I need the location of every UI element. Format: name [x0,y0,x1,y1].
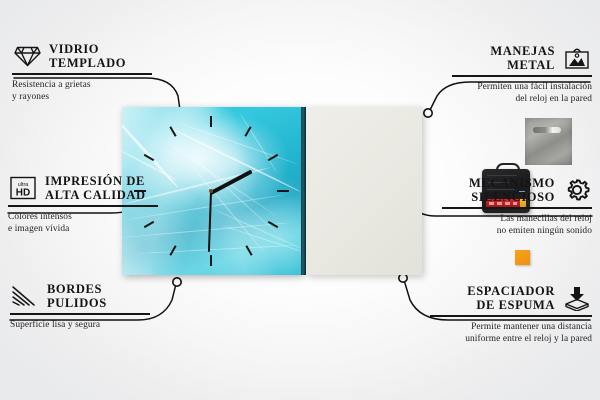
connector-dot-manejas [424,109,432,117]
picture-hook-icon [562,45,592,71]
infographic-canvas: VIDRIO TEMPLADO Resistencia a grietas y … [0,0,600,400]
hanger-slot [533,127,561,133]
down-arrow-layers-icon [562,285,592,311]
feature-title: MANEJAS METAL [490,44,555,72]
feature-title: MECANISMO SILENCIOSO [469,176,555,204]
feature-manejas-metal: MANEJAS METAL Permiten una fácil instala… [452,44,592,105]
clock-tick [210,116,212,127]
feature-title: IMPRESIÓN DE ALTA CALIDAD [45,174,146,202]
product-image [122,107,422,275]
feature-title: VIDRIO TEMPLADO [49,42,126,70]
svg-text:HD: HD [16,188,30,199]
feature-description: Colores intensos e imagen vívida [8,211,158,236]
diamond-icon [12,43,42,69]
foam-spacer [515,250,530,265]
feature-description: Permiten una fácil instalación del reloj… [452,81,592,106]
feature-mecanismo-silencioso: MECANISMO SILENCIOSO Las manecillas del … [442,176,592,237]
clock-tick [277,190,289,192]
mechanism-hanger-loop [496,163,520,175]
feature-description: Las manecillas del reloj no emiten ningú… [442,213,592,238]
feature-rule [442,207,592,209]
feature-title: ESPACIADOR DE ESPUMA [467,284,555,312]
connector-dot-espaciador [399,274,407,282]
feature-rule [8,205,158,207]
feature-description: Permite mantener una distancia uniforme … [430,321,592,346]
gear-icon [562,177,592,203]
minute-hand [208,192,212,252]
clock-back-panel [306,107,422,275]
clock-tick [210,255,212,266]
feature-rule [430,315,592,317]
feature-rule [10,313,150,315]
feature-bordes-pulidos: BORDES PULIDOS Superficie lisa y segura [10,282,150,331]
feature-impresion-alta-calidad: ultra HD IMPRESIÓN DE ALTA CALIDAD Color… [8,174,158,235]
feature-rule [452,75,592,77]
feature-title: BORDES PULIDOS [47,282,107,310]
clock-center-pin [209,189,213,193]
ultra-hd-icon: ultra HD [8,175,38,201]
feature-vidrio-templado: VIDRIO TEMPLADO Resistencia a grietas y … [12,42,152,103]
feature-description: Resistencia a grietas y rayones [12,79,152,104]
polished-edges-icon [10,283,40,309]
feature-rule [12,73,152,75]
feature-espaciador-espuma: ESPACIADOR DE ESPUMA Permite mantener un… [430,284,592,345]
connector-dot-bordes [173,278,181,286]
feature-description: Superficie lisa y segura [10,319,150,331]
metal-hanger-plate [525,118,572,165]
